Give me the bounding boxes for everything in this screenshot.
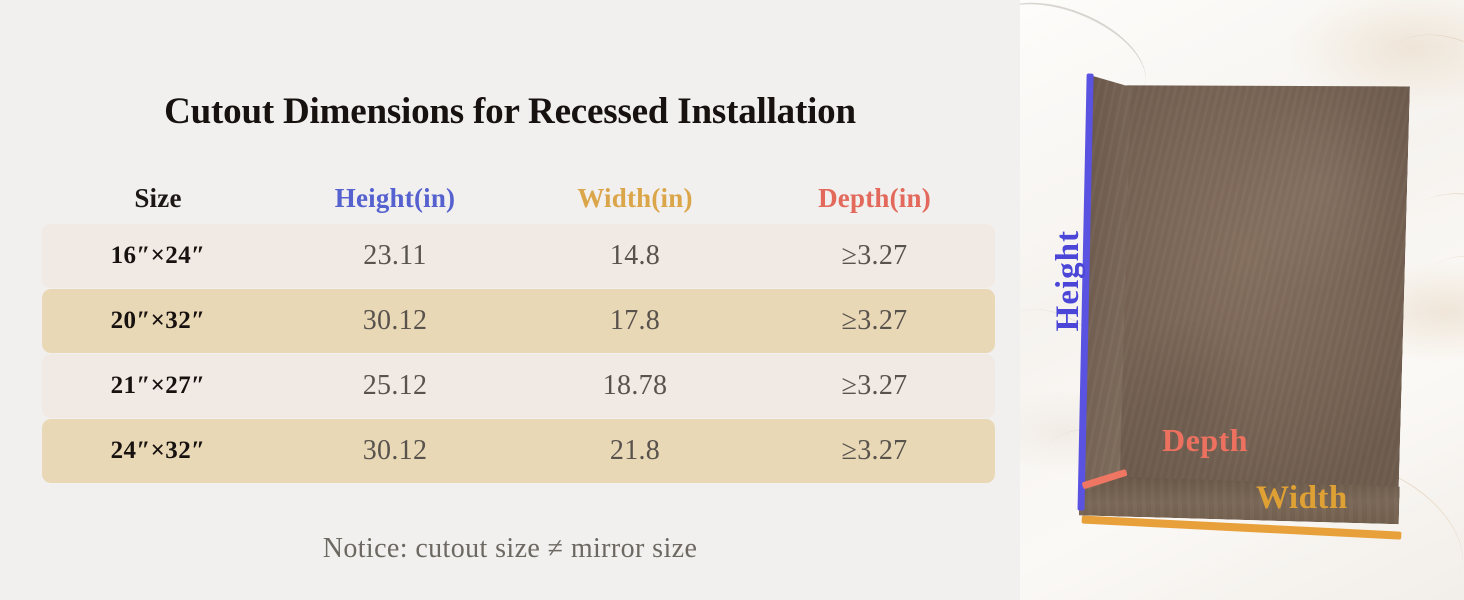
cell-depth: ≥3.27 <box>754 240 995 272</box>
dimensions-table: Size Height(in) Width(in) Depth(in) 16″×… <box>42 172 995 484</box>
table-row: 24″×32″ 30.12 21.8 ≥3.27 <box>42 419 995 483</box>
dimensions-panel: Cutout Dimensions for Recessed Installat… <box>0 0 1020 600</box>
cell-depth: ≥3.27 <box>754 305 995 337</box>
cell-width: 18.78 <box>516 370 754 402</box>
cell-height: 30.12 <box>274 435 516 467</box>
recessed-niche-photo: Height Depth Width <box>1020 0 1464 600</box>
column-header-size: Size <box>42 183 274 214</box>
cell-size: 21″×27″ <box>42 372 274 400</box>
niche-back-panel <box>1114 79 1410 512</box>
page-title: Cutout Dimensions for Recessed Installat… <box>0 90 1020 133</box>
cell-width: 21.8 <box>516 435 754 467</box>
cell-depth: ≥3.27 <box>754 370 995 402</box>
depth-label: Depth <box>1162 422 1248 459</box>
cell-size: 16″×24″ <box>42 242 274 270</box>
table-row: 16″×24″ 23.11 14.8 ≥3.27 <box>42 224 995 288</box>
height-label: Height <box>1050 230 1087 331</box>
cell-size: 24″×32″ <box>42 437 274 465</box>
column-header-width: Width(in) <box>516 183 754 214</box>
table-row: 21″×27″ 25.12 18.78 ≥3.27 <box>42 354 995 418</box>
cell-width: 17.8 <box>516 305 754 337</box>
width-label: Width <box>1256 480 1348 517</box>
column-header-height: Height(in) <box>274 183 516 214</box>
infographic-page: Cutout Dimensions for Recessed Installat… <box>0 0 1464 600</box>
column-header-depth: Depth(in) <box>754 183 995 214</box>
cell-depth: ≥3.27 <box>754 435 995 467</box>
cell-height: 25.12 <box>274 370 516 402</box>
cell-height: 23.11 <box>274 240 516 272</box>
table-row: 20″×32″ 30.12 17.8 ≥3.27 <box>42 289 995 353</box>
cell-height: 30.12 <box>274 305 516 337</box>
cell-width: 14.8 <box>516 240 754 272</box>
table-header-row: Size Height(in) Width(in) Depth(in) <box>42 172 995 224</box>
cell-size: 20″×32″ <box>42 307 274 335</box>
notice-text: Notice: cutout size ≠ mirror size <box>0 533 1020 565</box>
